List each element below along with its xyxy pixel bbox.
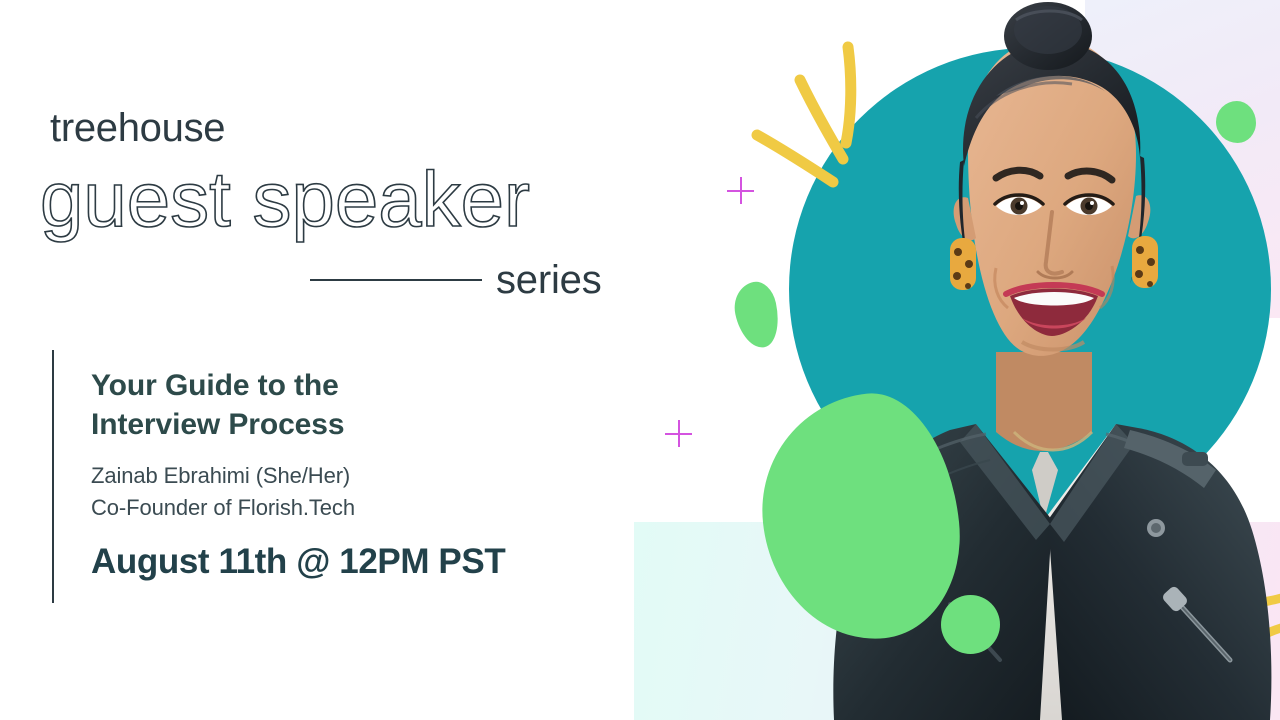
- event-title-line-2: Interview Process: [91, 405, 651, 444]
- headline-outline-text: guest speaker: [40, 160, 530, 238]
- event-accent-bar: [52, 350, 54, 603]
- plus-mark-icon: [727, 177, 754, 204]
- event-speaker: Zainab Ebrahimi (She/Her) Co-Founder of …: [91, 460, 651, 524]
- speaker-role: Co-Founder of Florish.Tech: [91, 492, 651, 524]
- event-date-time: August 11th @ 12PM PST: [91, 542, 651, 582]
- event-title: Your Guide to the Interview Process: [91, 366, 651, 444]
- series-row: series: [310, 258, 622, 302]
- promo-graphic: treehouse guest speaker series Your Guid…: [0, 0, 1280, 720]
- brand-wordmark: treehouse: [50, 108, 225, 148]
- green-blob-circle-bottom-icon: [941, 595, 1000, 654]
- speaker-name: Zainab Ebrahimi (She/Her): [91, 460, 651, 492]
- event-details: Your Guide to the Interview Process Zain…: [91, 366, 651, 582]
- event-title-line-1: Your Guide to the: [91, 366, 651, 405]
- series-label: series: [496, 260, 602, 300]
- series-divider: [310, 279, 482, 281]
- green-blob-small-icon: [730, 278, 785, 351]
- plus-mark-icon: [665, 420, 692, 447]
